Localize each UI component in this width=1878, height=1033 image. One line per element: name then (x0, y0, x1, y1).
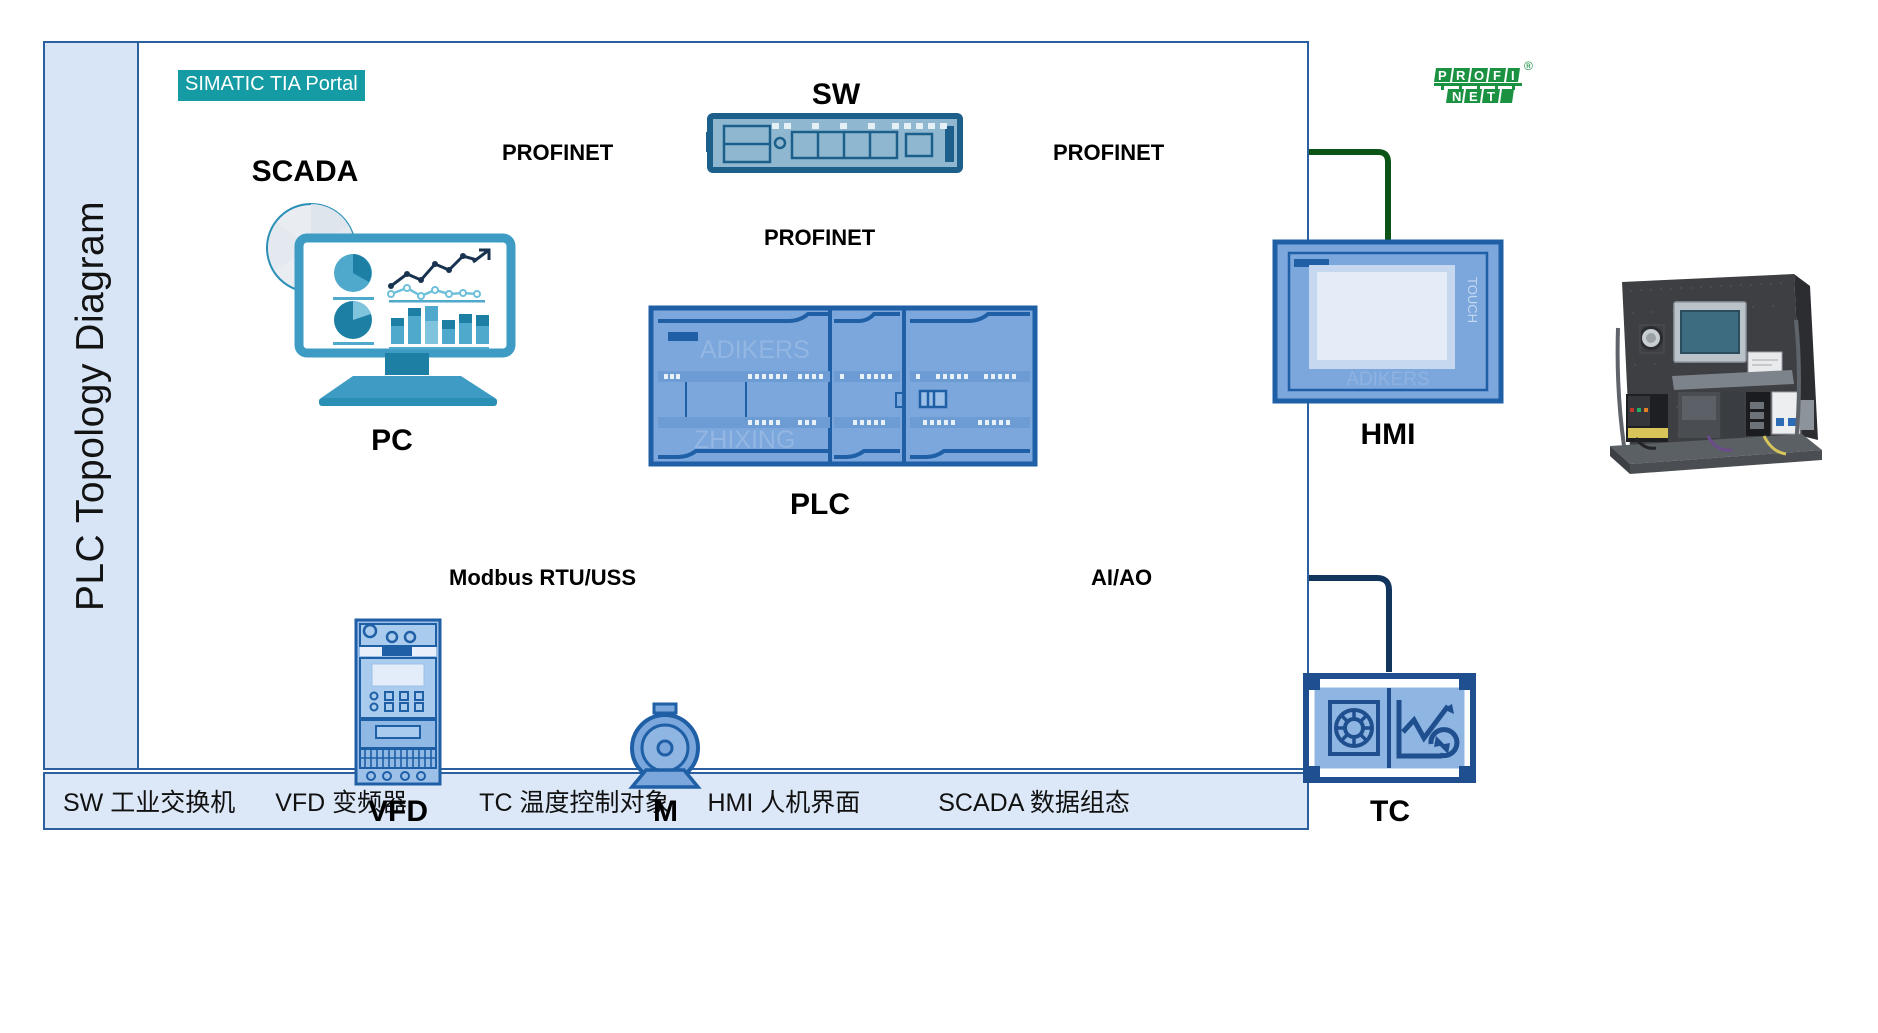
link-label-sw-plc: PROFINET (761, 225, 878, 251)
profinet-logo: P R O F I N E T ® (1432, 56, 1540, 106)
vfd-label: VFD (352, 795, 444, 829)
pc-label: PC (322, 424, 462, 458)
plc-label: PLC (750, 488, 890, 522)
hmi-device[interactable]: ADIKERS TOUCH (1272, 239, 1504, 404)
svg-text:N: N (1452, 89, 1461, 104)
plc-brand-top-text: ADIKERS (700, 336, 810, 364)
tc-label: TC (1330, 795, 1450, 829)
plc-training-kit-photo (1596, 268, 1828, 486)
hmi-brand-text: ADIKERS (1346, 369, 1429, 390)
plc-brand-bottom-text: ZHIXING (694, 426, 795, 454)
svg-text:E: E (1469, 89, 1478, 104)
motor-label: M (618, 795, 713, 829)
link-label-sw-hmi: PROFINET (1050, 140, 1167, 166)
svg-text:O: O (1474, 68, 1484, 83)
svg-text:®: ® (1524, 59, 1533, 73)
svg-text:F: F (1493, 68, 1501, 83)
legend-item-scada: SCADA 数据组态 (938, 783, 1130, 819)
link-label-plc-tc: AI/AO (1088, 565, 1155, 591)
hmi-touch-text: TOUCH (1465, 277, 1480, 323)
plc-device[interactable]: ADIKERS ZHIXING (648, 305, 1038, 467)
sidebar-title-panel: PLC Topology Diagram (45, 43, 139, 768)
simatic-tia-portal-badge: SIMATIC TIA Portal (178, 70, 365, 101)
legend-item-hmi: HMI 人机界面 (707, 783, 860, 819)
svg-text:I: I (1511, 68, 1515, 83)
legend-item-sw: SW 工业交换机 (63, 783, 235, 819)
pc-device[interactable] (265, 190, 535, 415)
sw-device[interactable] (700, 112, 972, 176)
motor-device[interactable] (618, 700, 713, 790)
link-label-pc-sw: PROFINET (499, 140, 616, 166)
sw-label: SW (786, 78, 886, 112)
svg-text:P: P (1438, 68, 1447, 83)
svg-text:R: R (1456, 68, 1466, 83)
diagram-page: PLC Topology Diagram SW 工业交换机 VFD 变频器 TC… (0, 0, 1878, 1033)
hmi-label: HMI (1318, 418, 1458, 452)
link-label-plc-vfd: Modbus RTU/USS (446, 565, 639, 591)
svg-text:T: T (1487, 89, 1495, 104)
tc-device[interactable] (1302, 672, 1477, 784)
page-title: PLC Topology Diagram (69, 200, 113, 610)
vfd-device[interactable] (352, 616, 444, 788)
scada-label: SCADA (240, 155, 370, 189)
